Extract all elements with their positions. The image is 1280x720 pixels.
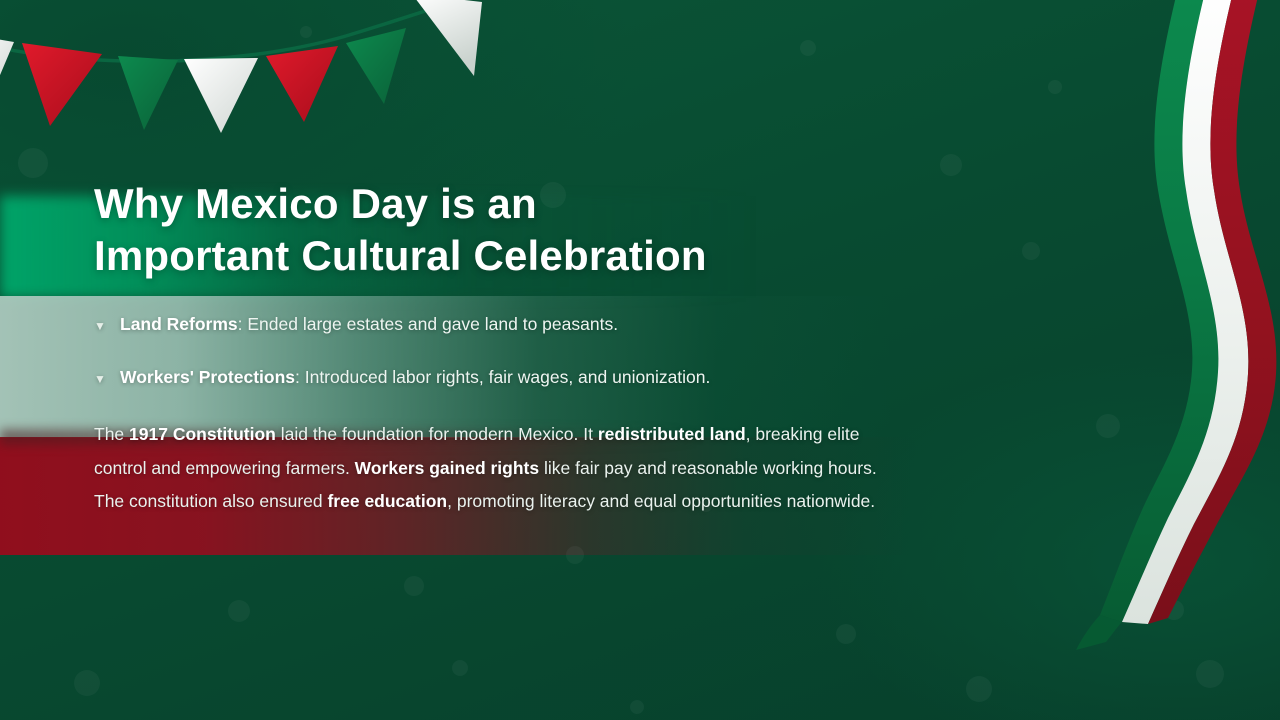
paragraph-run-2: laid the foundation for modern Mexico. I… xyxy=(276,424,598,444)
paragraph-run-0: The xyxy=(94,424,129,444)
ribbon-tail xyxy=(1076,615,1122,650)
pennant-green-1 xyxy=(118,56,178,130)
bullet-term-1: Workers' Protections xyxy=(120,367,295,387)
list-item: ▼ Land Reforms: Ended large estates and … xyxy=(94,312,914,338)
title-line-2: Important Cultural Celebration xyxy=(94,230,914,282)
pennant-red-2 xyxy=(266,46,338,122)
bunting-decoration xyxy=(0,0,506,154)
body-paragraph: The 1917 Constitution laid the foundatio… xyxy=(94,418,894,519)
paragraph-run-8: , promoting literacy and equal opportuni… xyxy=(447,491,875,511)
slide-content: Why Mexico Day is an Important Cultural … xyxy=(94,178,914,519)
pennant-white-1 xyxy=(0,34,14,94)
pennant-red-1 xyxy=(22,43,102,126)
ribbon-decoration xyxy=(1060,0,1280,650)
triangle-down-icon: ▼ xyxy=(94,314,120,338)
paragraph-run-3: redistributed land xyxy=(598,424,746,444)
bullet-rest-0: : Ended large estates and gave land to p… xyxy=(238,314,618,334)
bullet-rest-1: : Introduced labor rights, fair wages, a… xyxy=(295,367,710,387)
paragraph-run-7: free education xyxy=(327,491,447,511)
bullet-term-0: Land Reforms xyxy=(120,314,238,334)
pennant-green-2 xyxy=(346,28,406,104)
slide-canvas: Why Mexico Day is an Important Cultural … xyxy=(0,0,1280,720)
title-line-1: Why Mexico Day is an xyxy=(94,178,914,230)
paragraph-run-5: Workers gained rights xyxy=(355,458,539,478)
bullet-text-1: Workers' Protections: Introduced labor r… xyxy=(120,365,710,389)
pennant-white-2 xyxy=(184,58,258,133)
paragraph-run-1: 1917 Constitution xyxy=(129,424,276,444)
page-title: Why Mexico Day is an Important Cultural … xyxy=(94,178,914,282)
list-item: ▼ Workers' Protections: Introduced labor… xyxy=(94,365,914,391)
triangle-down-icon: ▼ xyxy=(94,367,120,391)
bullet-list: ▼ Land Reforms: Ended large estates and … xyxy=(94,312,914,391)
bullet-text-0: Land Reforms: Ended large estates and ga… xyxy=(120,312,618,336)
